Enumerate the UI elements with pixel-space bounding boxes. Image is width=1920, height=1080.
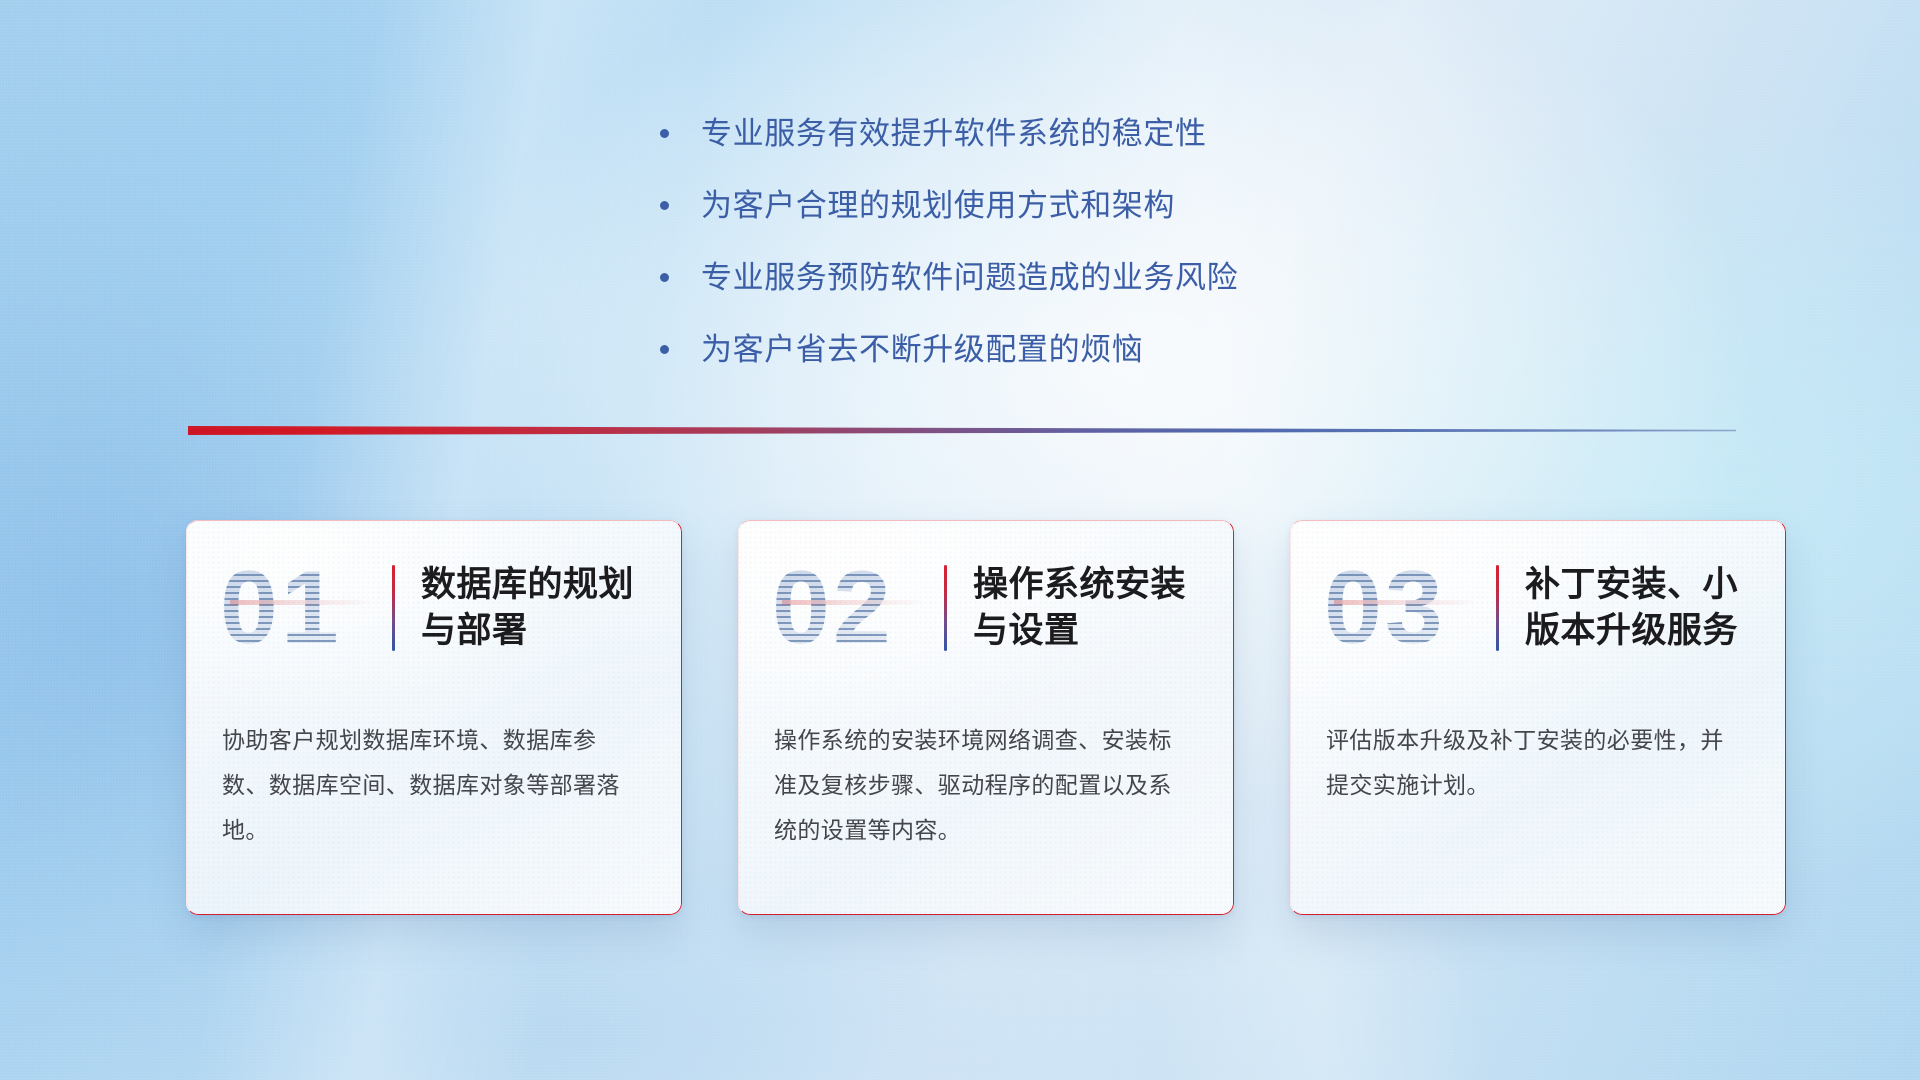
bullet-item-label: 为客户省去不断升级配置的烦恼: [701, 328, 1143, 372]
card-row: 01 数据库的规划与部署 协助客户规划数据库环境、数据库参数、数据库空间、数据库…: [186, 520, 1786, 915]
card-accent-bar: [392, 565, 395, 651]
bullet-dot-icon: [660, 129, 669, 138]
card-title: 操作系统安装与设置: [973, 562, 1204, 654]
bullet-dot-icon: [660, 273, 669, 282]
card-index-number: 03: [1324, 556, 1492, 660]
service-card-03[interactable]: 03 补丁安装、小版本升级服务 评估版本升级及补丁安装的必要性，并提交实施计划。: [1290, 520, 1786, 915]
bullet-dot-icon: [660, 345, 669, 354]
bullet-item-label: 专业服务有效提升软件系统的稳定性: [701, 112, 1207, 156]
card-description: 协助客户规划数据库环境、数据库参数、数据库空间、数据库对象等部署落地。: [186, 696, 682, 853]
card-header: 02 操作系统安装与设置: [738, 520, 1234, 696]
bullet-list: 专业服务有效提升软件系统的稳定性 为客户合理的规划使用方式和架构 专业服务预防软…: [660, 112, 1400, 400]
card-description: 操作系统的安装环境网络调查、安装标准及复核步骤、驱动程序的配置以及系统的设置等内…: [738, 696, 1234, 853]
card-title: 数据库的规划与部署: [421, 562, 652, 654]
divider-gradient-bar: [188, 426, 1736, 435]
bullet-item-label: 为客户合理的规划使用方式和架构: [701, 184, 1175, 228]
card-description: 评估版本升级及补丁安装的必要性，并提交实施计划。: [1290, 696, 1786, 808]
slide-canvas: 专业服务有效提升软件系统的稳定性 为客户合理的规划使用方式和架构 专业服务预防软…: [0, 0, 1920, 1080]
service-card-02[interactable]: 02 操作系统安装与设置 操作系统的安装环境网络调查、安装标准及复核步骤、驱动程…: [738, 520, 1234, 915]
card-header: 03 补丁安装、小版本升级服务: [1290, 520, 1786, 696]
bullet-item-2: 为客户合理的规划使用方式和架构: [660, 184, 1400, 228]
bullet-item-1: 专业服务有效提升软件系统的稳定性: [660, 112, 1400, 156]
bullet-item-3: 专业服务预防软件问题造成的业务风险: [660, 256, 1400, 300]
bullet-item-label: 专业服务预防软件问题造成的业务风险: [701, 256, 1238, 300]
card-accent-bar: [944, 565, 947, 651]
card-title: 补丁安装、小版本升级服务: [1525, 562, 1756, 654]
card-index-number: 02: [772, 556, 940, 660]
card-accent-bar: [1496, 565, 1499, 651]
card-header: 01 数据库的规划与部署: [186, 520, 682, 696]
service-card-01[interactable]: 01 数据库的规划与部署 协助客户规划数据库环境、数据库参数、数据库空间、数据库…: [186, 520, 682, 915]
bullet-item-4: 为客户省去不断升级配置的烦恼: [660, 328, 1400, 372]
card-index-number: 01: [220, 556, 388, 660]
bullet-dot-icon: [660, 201, 669, 210]
section-divider: [188, 424, 1736, 440]
